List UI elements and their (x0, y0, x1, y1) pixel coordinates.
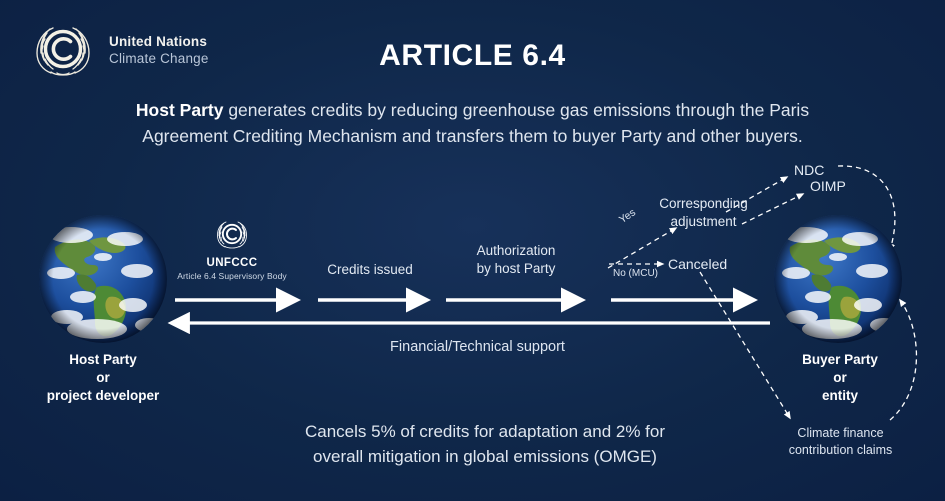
branch-no-mcu-label: No (MCU) (613, 268, 658, 279)
buyer-party-line-2: or (750, 369, 930, 387)
note-financial-technical-support: Financial/Technical support (280, 339, 675, 355)
climate-finance-line-1: Climate finance (758, 425, 923, 442)
buyer-party-line-1: Buyer Party (750, 351, 930, 369)
yes-branch-arrow (608, 228, 676, 268)
step-authorization-line-1: Authorization (441, 242, 591, 260)
branch-ndc: NDC (794, 162, 824, 178)
host-party-line-1: Host Party (13, 351, 193, 369)
corresponding-adjustment-line-2: adjustment (646, 213, 761, 231)
subtitle: Host Party generates credits by reducing… (95, 97, 850, 150)
buyer-party-line-3: entity (750, 387, 930, 405)
branch-yes-label: Yes (617, 206, 638, 226)
note-omge-line-1: Cancels 5% of credits for adaptation and… (245, 420, 725, 445)
host-party-line-3: project developer (13, 387, 193, 405)
buyer-party-label: Buyer Party or entity (750, 351, 930, 406)
buyer-party-globe-icon (772, 213, 904, 345)
step-authorization: Authorization by host Party (441, 242, 591, 278)
unfccc-c-mark-icon (215, 219, 249, 251)
host-party-globe-icon (37, 213, 169, 345)
subtitle-lead: Host Party (136, 100, 224, 120)
supervisory-body-name: UNFCCC (176, 257, 288, 269)
climate-finance-line-2: contribution claims (758, 442, 923, 459)
supervisory-body: UNFCCC Article 6.4 Supervisory Body (176, 219, 288, 281)
step-authorization-line-2: by host Party (441, 260, 591, 278)
host-party-line-2: or (13, 369, 193, 387)
page-title: ARTICLE 6.4 (0, 39, 945, 73)
host-party-label: Host Party or project developer (13, 351, 193, 406)
branch-canceled: Canceled (668, 256, 727, 272)
supervisory-body-role: Article 6.4 Supervisory Body (176, 271, 288, 281)
note-climate-finance-claims: Climate finance contribution claims (758, 425, 923, 460)
subtitle-rest: generates credits by reducing greenhouse… (142, 100, 809, 146)
step-credits-issued: Credits issued (300, 261, 440, 279)
slide-canvas: United Nations Climate Change ARTICLE 6.… (0, 0, 945, 501)
branch-oimp: OIMP (810, 178, 846, 194)
branch-corresponding-adjustment: Corresponding adjustment (646, 195, 761, 231)
corresponding-adjustment-line-1: Corresponding (646, 195, 761, 213)
note-omge: Cancels 5% of credits for adaptation and… (245, 420, 725, 469)
note-omge-line-2: overall mitigation in global emissions (… (245, 445, 725, 470)
